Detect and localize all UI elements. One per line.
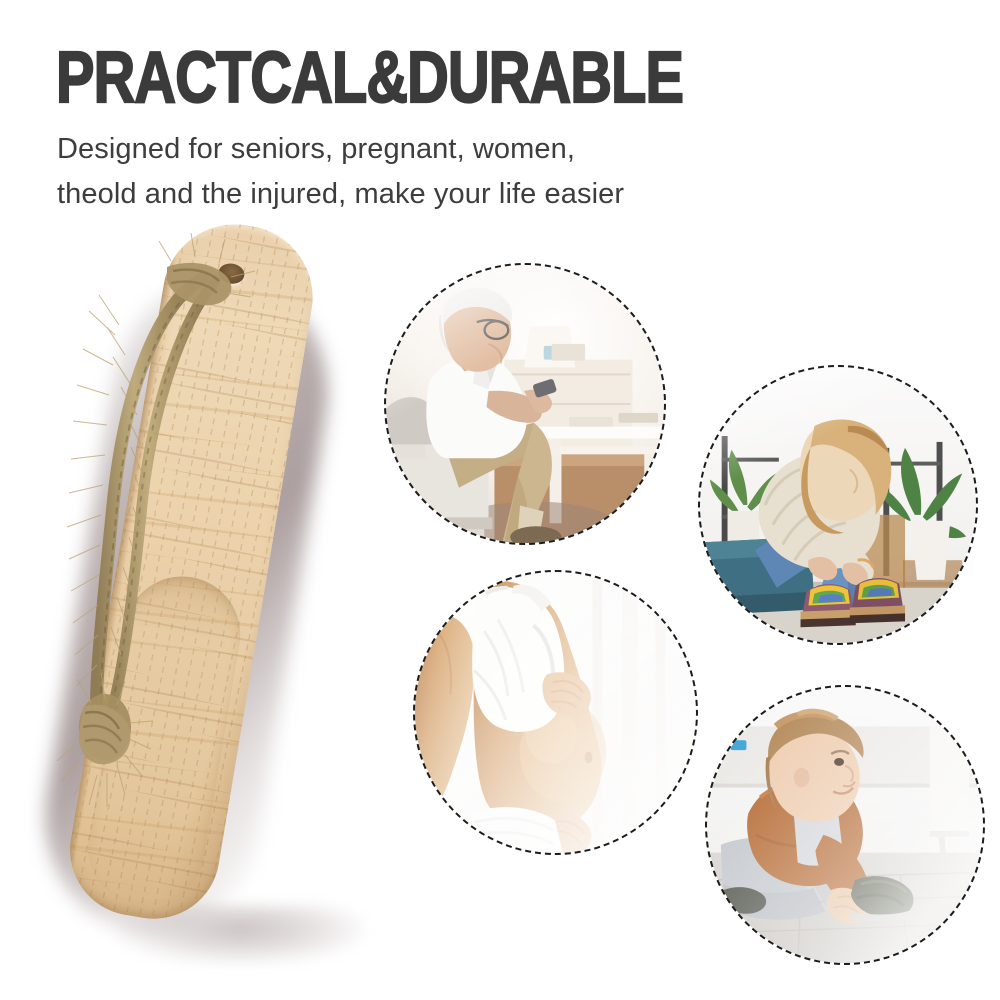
jute-rope-loop — [55, 215, 400, 985]
photo-woman-tying-shoes — [700, 367, 976, 643]
gallery-circle-pregnant-woman — [413, 570, 698, 855]
gallery-circle-senior-man — [384, 263, 666, 545]
page-title: PRACTCAL&DURABLE — [56, 42, 683, 114]
gallery-circle-child — [705, 685, 985, 965]
photo-child — [707, 687, 983, 963]
photo-pregnant-woman — [415, 572, 696, 853]
gallery-circle-woman-tying-shoes — [698, 365, 978, 645]
photo-senior-man — [386, 265, 664, 543]
page-subtitle: Designed for seniors, pregnant, women, t… — [57, 127, 624, 217]
promo-banner: PRACTCAL&DURABLE Designed for seniors, p… — [0, 0, 1000, 1000]
product-photo — [55, 215, 400, 985]
